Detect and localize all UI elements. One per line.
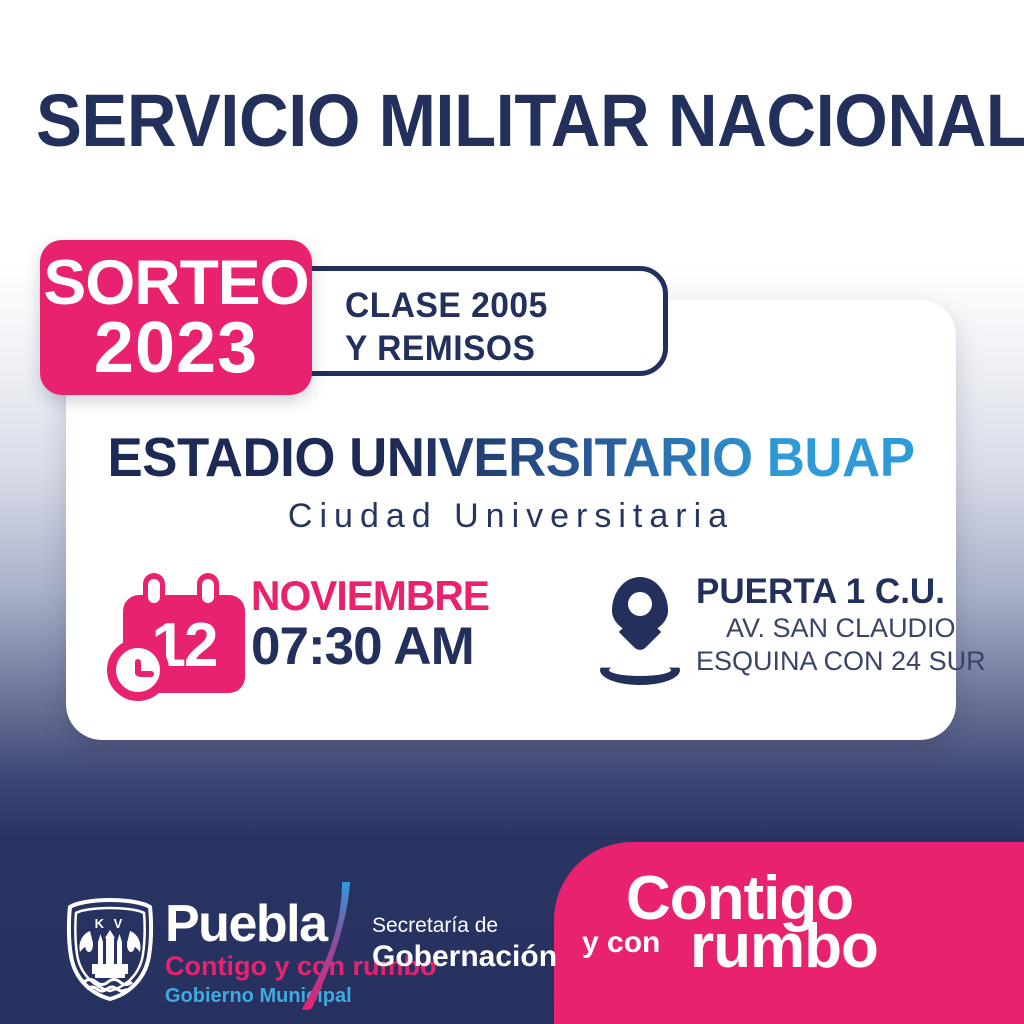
event-month: NOVIEMBRE [251, 575, 489, 617]
venue-subtitle: Ciudad Universitaria [66, 497, 956, 536]
map-pin-hole [628, 592, 652, 616]
location-cross-street: ESQUINA CON 24 SUR [696, 645, 986, 679]
venue-block: ESTADIO UNIVERSITARIO BUAP Ciudad Univer… [66, 430, 956, 536]
poster-canvas: SERVICIO MILITAR NACIONAL CLASE 2005 Y R… [0, 0, 1024, 1024]
venue-name: ESTADIO UNIVERSITARIO BUAP [84, 430, 938, 485]
page-title: SERVICIO MILITAR NACIONAL [36, 84, 1024, 158]
clock-icon [107, 639, 169, 701]
clase-pill-text: CLASE 2005 Y REMISOS [345, 285, 548, 370]
swoosh-divider-icon [298, 880, 368, 1012]
secretaria-top-line: Secretaría de [372, 913, 557, 938]
secretaria-bottom-line: Gobernación [372, 940, 557, 975]
puebla-coat-of-arms-icon: K V [62, 898, 158, 1002]
svg-text:K V: K V [95, 916, 126, 931]
calendar-clock-icon: 12 [101, 573, 261, 693]
sorteo-label: SORTEO [37, 252, 314, 315]
date-text-block: NOVIEMBRE 07:30 AM [251, 575, 496, 675]
map-pin-shadow [600, 655, 680, 685]
sorteo-badge: SORTEO 2023 [40, 240, 312, 395]
location-street: AV. SAN CLAUDIO [696, 612, 986, 646]
secretaria-logo: Secretaría de Gobernación [372, 913, 557, 975]
clase-line-1: CLASE 2005 [345, 286, 548, 325]
location-gate: PUERTA 1 C.U. [696, 573, 986, 612]
event-time: 07:30 AM [251, 619, 496, 675]
sorteo-year: 2023 [40, 312, 312, 384]
slogan-line-2-big: rumbo [690, 916, 878, 978]
calendar-ring-hole-right [202, 579, 214, 603]
clase-line-2: Y REMISOS [345, 329, 535, 368]
map-pin-head [612, 577, 668, 633]
clase-pill: CLASE 2005 Y REMISOS [275, 266, 668, 376]
clock-minute-hand [137, 671, 154, 677]
slogan-line-2-small: y con [582, 928, 660, 958]
map-pin-icon [596, 577, 686, 687]
event-details-row: 12 NOVIEMBRE 07:30 AM PUERTA 1 C.U. AV. … [66, 565, 956, 715]
location-text-block: PUERTA 1 C.U. AV. SAN CLAUDIO ESQUINA CO… [696, 573, 986, 679]
slogan-panel: Contigo y con rumbo [554, 842, 1024, 1024]
calendar-ring-hole-left [148, 579, 160, 603]
